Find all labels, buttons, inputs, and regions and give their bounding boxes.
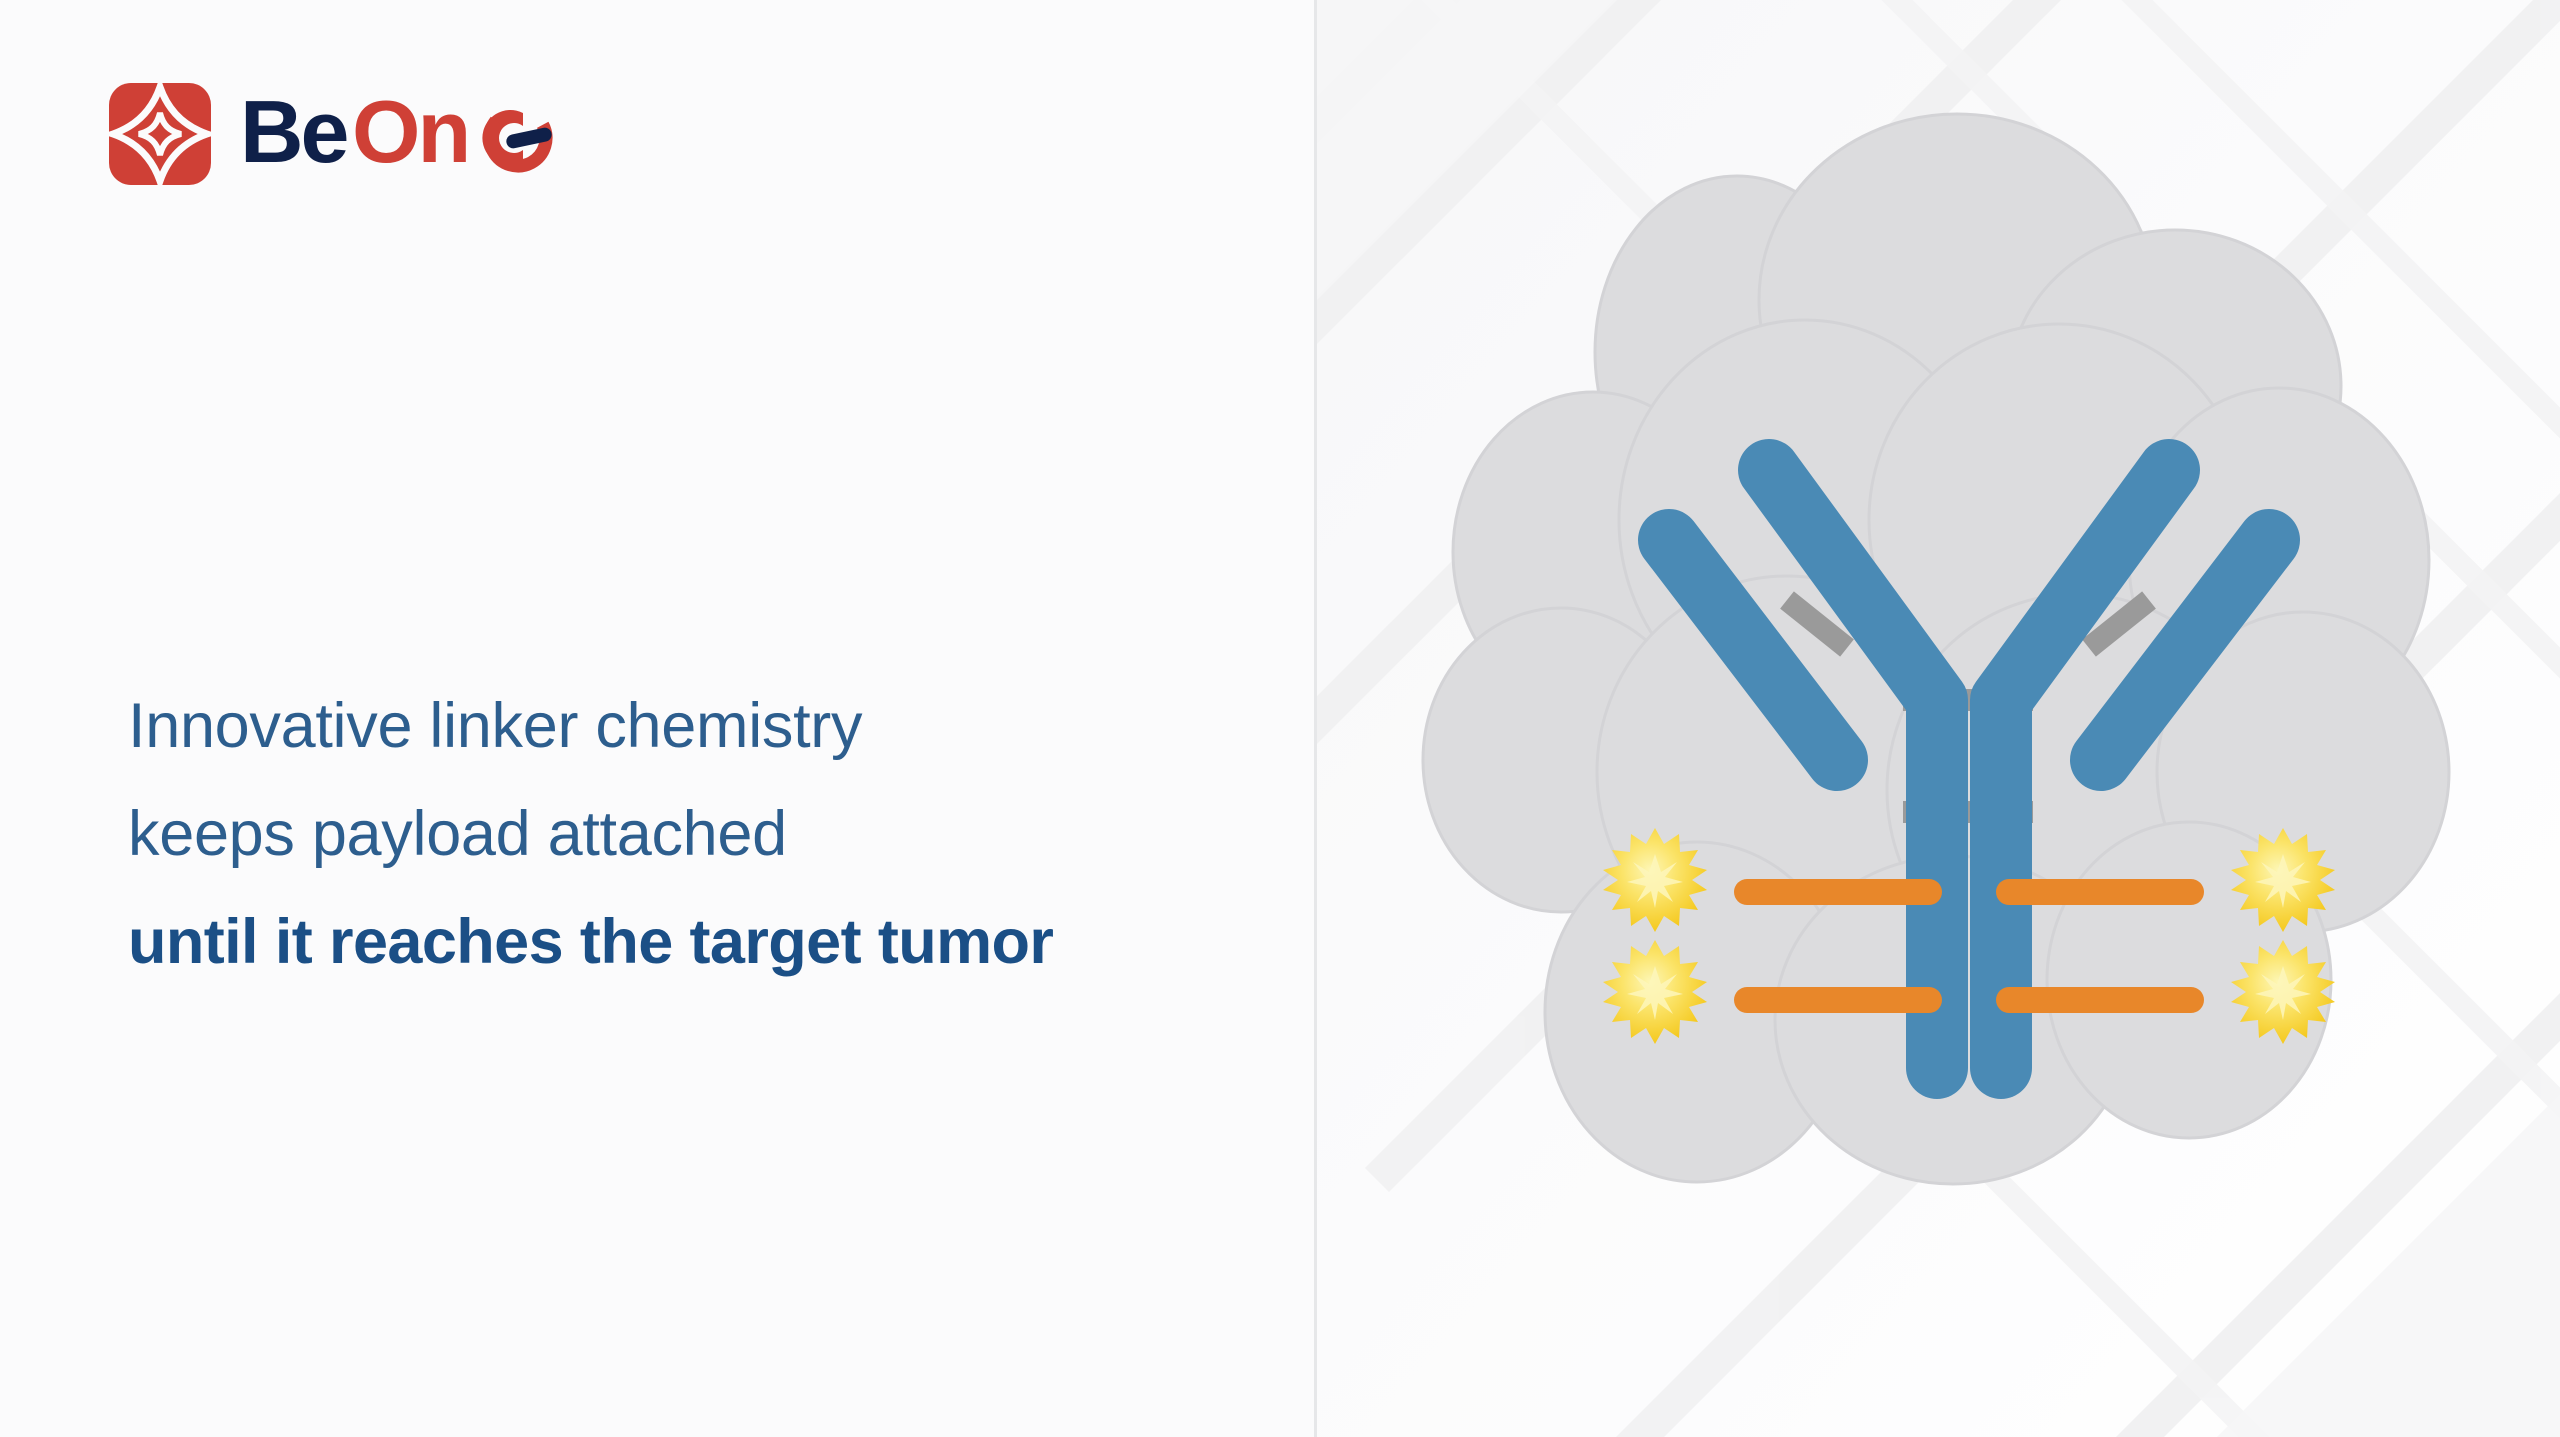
svg-text:On: On [352, 82, 468, 181]
left-content-panel: Be On Innovative linker chemistry keeps … [0, 0, 1316, 1437]
illustration-panel [1317, 0, 2560, 1437]
headline-line-2: keeps payload attached [128, 780, 1248, 888]
beone-wordmark: Be On [240, 82, 590, 186]
slide-root: Be On Innovative linker chemistry keeps … [0, 0, 2560, 1437]
headline-block: Innovative linker chemistry keeps payloa… [128, 672, 1248, 996]
headline-line-3: until it reaches the target tumor [128, 888, 1248, 996]
headline-line-1: Innovative linker chemistry [128, 672, 1248, 780]
beone-logo[interactable]: Be On [108, 78, 590, 190]
beone-star-mark-icon [108, 82, 212, 186]
svg-text:Be: Be [240, 82, 347, 181]
adc-illustration [1317, 0, 2560, 1437]
